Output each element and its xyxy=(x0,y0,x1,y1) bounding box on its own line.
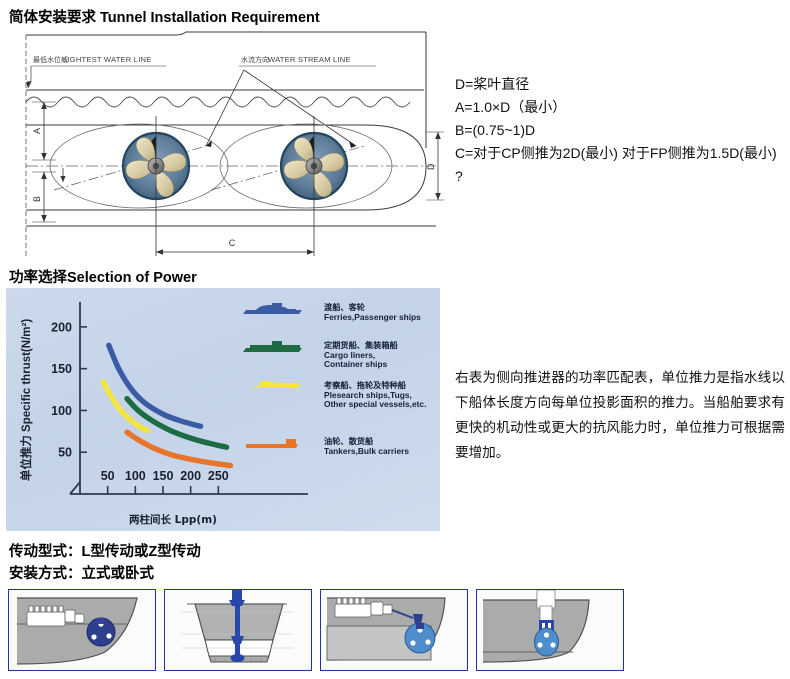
series-curve-2 xyxy=(103,382,147,431)
legend-ship-icon-3 xyxy=(246,439,298,448)
y-tick-label-100: 100 xyxy=(51,404,72,418)
power-section-title: 功率选择Selection of Power xyxy=(9,266,197,287)
legend-label-en-1-1: Container ships xyxy=(324,359,388,369)
formula-a: A=1.0×D（最小） xyxy=(455,96,785,119)
y-tick-label-150: 150 xyxy=(51,362,72,376)
legend-label-en-2-1: Other special vessels,etc. xyxy=(324,399,426,409)
water-stream-line-label-en: WATER STREAM LINE xyxy=(268,55,351,64)
legend-ship-icon-2 xyxy=(252,381,300,388)
formula-b: B=(0.75~1)D xyxy=(455,119,785,142)
photo-vertical-z-drive-hull-section-view[interactable] xyxy=(164,589,312,671)
series-curve-3 xyxy=(127,432,231,465)
formula-unknown: ? xyxy=(455,165,785,188)
power-note-paragraph: 右表为侧向推进器的功率匹配表，单位推力是指水线以下船体长度方向每单位投影面积的推… xyxy=(455,365,785,465)
legend-label-en-3-0: Tankers,Bulk carriers xyxy=(324,446,409,456)
x-tick-label-50: 50 xyxy=(101,469,115,483)
mount-type-line: 安装方式：立式或卧式 xyxy=(9,562,154,583)
legend-ship-icon-1 xyxy=(243,341,302,352)
tunnel-section-title: 简体安装要求 Tunnel Installation Requirement xyxy=(9,6,320,27)
legend-ship-icon-0 xyxy=(243,303,302,314)
tunnel-installation-diagram: 最低水位线 LIGHTEST WATER LINE 水流方向 WATER STR… xyxy=(6,30,446,270)
formula-c: C=对于CP侧推为2D(最小) 对于FP侧推为1.5D(最小) xyxy=(455,142,785,165)
page-root: 简体安装要求 Tunnel Installation Requirement xyxy=(0,0,790,679)
installation-formula-list: D=桨叶直径 A=1.0×D（最小） B=(0.75~1)D C=对于CP侧推为… xyxy=(455,73,785,188)
legend-label-en-0-0: Ferries,Passenger ships xyxy=(324,312,421,322)
x-tick-label-150: 150 xyxy=(153,469,174,483)
drive-type-line: 传动型式：L型传动或Z型传动 xyxy=(9,540,201,561)
legend-label-cn-0: 渡船、客轮 xyxy=(324,302,366,312)
dimension-b-label: B xyxy=(32,196,42,202)
photo-horizontal-drive-engine-room-view[interactable] xyxy=(320,589,468,671)
water-stream-line-label-cn: 水流方向 xyxy=(241,55,269,64)
x-tick-label-250: 250 xyxy=(208,469,229,483)
y-tick-label-50: 50 xyxy=(58,446,72,460)
x-tick-label-100: 100 xyxy=(125,469,146,483)
legend-label-cn-3: 油轮、散货船 xyxy=(324,436,374,446)
legend-label-cn-2: 考察船、拖轮及特种船 xyxy=(324,380,407,390)
dimension-a-label: A xyxy=(32,128,42,134)
lightest-water-line-label-en: LIGHTEST WATER LINE xyxy=(63,55,151,64)
dimension-d-label: D xyxy=(426,163,436,170)
x-axis-title: 两柱间长 Lpp(m) xyxy=(129,513,217,526)
specific-thrust-chart: 5010015020050100150200250单位推力 Specific t… xyxy=(6,288,440,531)
photo-horizontal-l-drive-hull-side-view[interactable] xyxy=(8,589,156,671)
y-axis-title: 单位推力 Specific thrust(N/m²) xyxy=(19,319,33,481)
legend-label-cn-1: 定期货船、集装箱船 xyxy=(323,340,399,350)
dimension-c-label: C xyxy=(229,238,236,248)
formula-d: D=桨叶直径 xyxy=(455,73,785,96)
photo-vertical-drive-thruster-bow-view[interactable] xyxy=(476,589,624,671)
x-tick-label-200: 200 xyxy=(180,469,201,483)
installation-photo-row xyxy=(8,589,624,671)
y-tick-label-200: 200 xyxy=(51,320,72,334)
axis-origin-elbow xyxy=(70,482,80,494)
